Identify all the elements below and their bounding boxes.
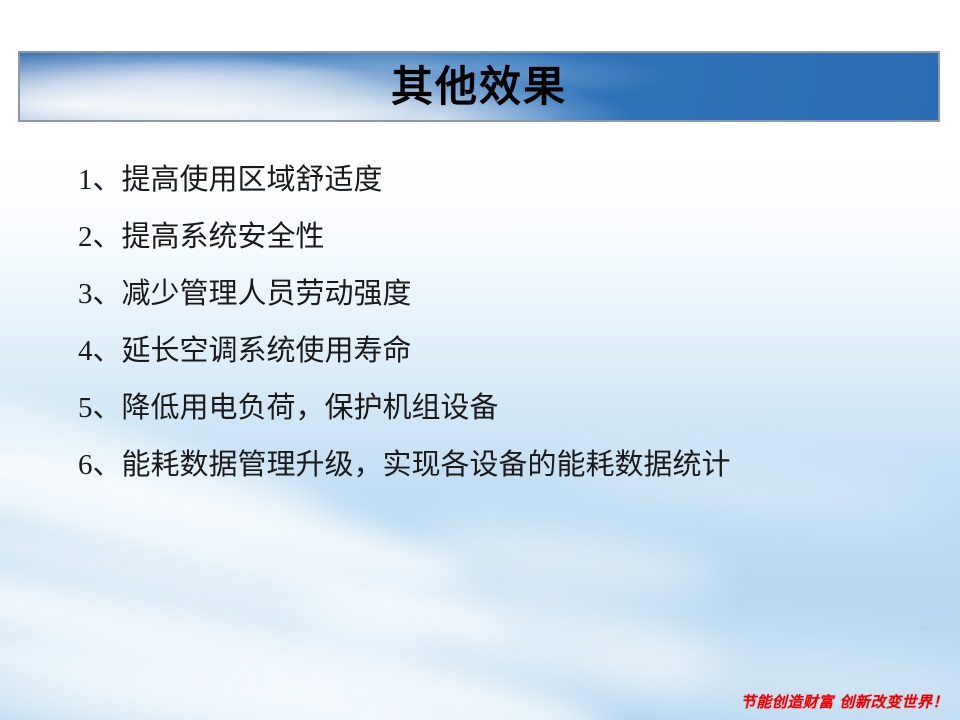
- list-item: 3、减少管理人员劳动强度: [78, 266, 928, 323]
- list-item: 4、延长空调系统使用寿命: [78, 323, 928, 380]
- list-item: 1、提高使用区域舒适度: [78, 152, 928, 209]
- slide-canvas: 其他效果 1、提高使用区域舒适度 2、提高系统安全性 3、减少管理人员劳动强度 …: [0, 0, 960, 720]
- list-item: 2、提高系统安全性: [78, 209, 928, 266]
- page-title: 其他效果: [20, 66, 938, 108]
- list-item: 5、降低用电负荷，保护机组设备: [78, 380, 928, 437]
- footer-slogan: 节能创造财富 创新改变世界！: [741, 691, 948, 712]
- bullet-list: 1、提高使用区域舒适度 2、提高系统安全性 3、减少管理人员劳动强度 4、延长空…: [78, 152, 928, 494]
- list-item: 6、能耗数据管理升级，实现各设备的能耗数据统计: [78, 437, 928, 494]
- slide-title-banner: 其他效果: [18, 51, 940, 122]
